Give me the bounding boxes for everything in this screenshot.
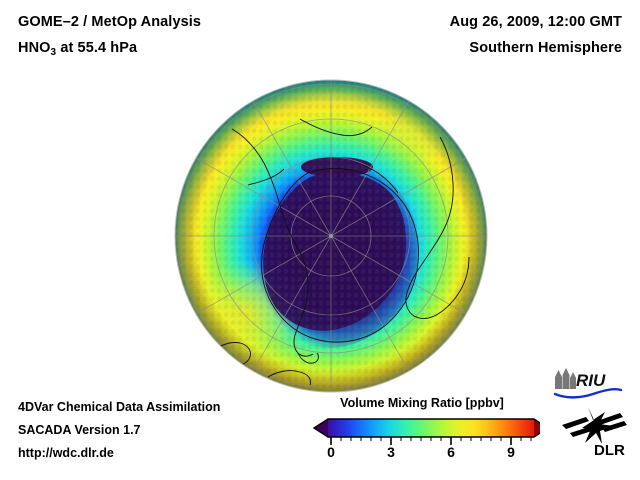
title-species-level: HNO3 at 55.4 hPa (18, 40, 137, 58)
colorbar-tick-label-3: 3 (376, 444, 406, 460)
polar-map-globe (172, 77, 490, 395)
hemisphere-label: Southern Hemisphere (469, 40, 622, 56)
riu-towers-icon (555, 368, 576, 389)
orthographic-projection-svg (172, 77, 490, 395)
figure-canvas: GOME–2 / MetOp Analysis HNO3 at 55.4 hPa… (0, 0, 640, 480)
dlr-wordmark: DLR (594, 442, 625, 458)
riu-logo: RIU (551, 367, 623, 401)
colorbar-tick-label-6: 6 (436, 444, 466, 460)
timestamp-label: Aug 26, 2009, 12:00 GMT (450, 14, 622, 30)
footer-version: SACADA Version 1.7 (18, 423, 141, 437)
colorbar-title: Volume Mixing Ratio [ppbv] (312, 396, 532, 410)
colorbar (308, 416, 540, 446)
colorbar-tick-label-0: 0 (316, 444, 346, 460)
title-instrument: GOME–2 / MetOp Analysis (18, 14, 201, 30)
colorbar-gradient (314, 419, 540, 437)
dlr-logo: DLR (558, 406, 628, 458)
footer-url[interactable]: http://wdc.dlr.de (18, 446, 114, 460)
footer-method: 4DVar Chemical Data Assimilation (18, 400, 220, 414)
species-level-text: at 55.4 hPa (56, 40, 137, 56)
south-pole-marker (329, 234, 333, 238)
colorbar-tick-label-9: 9 (496, 444, 526, 460)
colorbar-left-arrow (314, 419, 328, 437)
riu-wordmark: RIU (576, 371, 606, 390)
species-formula-prefix: HNO (18, 40, 51, 56)
dlr-bird-icon (562, 407, 627, 444)
riu-wave-icon (555, 389, 621, 397)
